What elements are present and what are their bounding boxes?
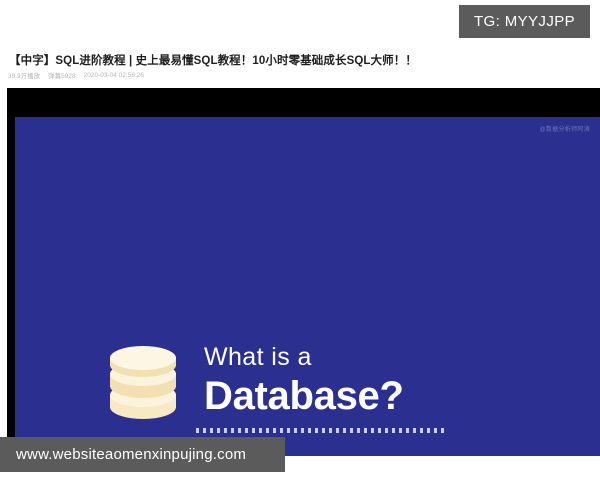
slide-headline-english: What is a Database? [204, 345, 534, 416]
headline-line-database: Database? [204, 376, 534, 416]
page-title: 【中字】SQL进阶教程 | 史上最易懂SQL教程！10小时零基础成长SQL大师！… [9, 52, 417, 68]
dotted-divider [196, 428, 445, 433]
meta-play-count: 39.9万播放 [8, 70, 40, 80]
meta-danmaku-count: 弹幕5928 [48, 70, 75, 80]
channel-watermark: @数据分析师阿涛 [540, 124, 591, 133]
database-cylinder-icon [103, 345, 183, 427]
video-player[interactable]: @数据分析师阿涛 What is a Database? [7, 88, 600, 456]
video-slide-frame: @数据分析师阿涛 What is a Database? [15, 117, 600, 456]
page-root: TG: MYYJJPP 【中字】SQL进阶教程 | 史上最易懂SQL教程！10小… [0, 0, 600, 480]
meta-timestamp: 2020-03-04 02:56:26 [84, 72, 144, 79]
site-url-watermark: www.websiteaomenxinpujing.com [0, 437, 285, 472]
headline-line-what-is-a: What is a [204, 345, 534, 370]
video-info-header: 【中字】SQL进阶教程 | 史上最易懂SQL教程！10小时零基础成长SQL大师！… [0, 40, 600, 88]
telegram-tag-overlay: TG: MYYJJPP [459, 5, 590, 38]
letterbox-bar-top [7, 88, 600, 117]
video-meta-row: 39.9万播放 弹幕5928 2020-03-04 02:56:26 [8, 70, 144, 80]
